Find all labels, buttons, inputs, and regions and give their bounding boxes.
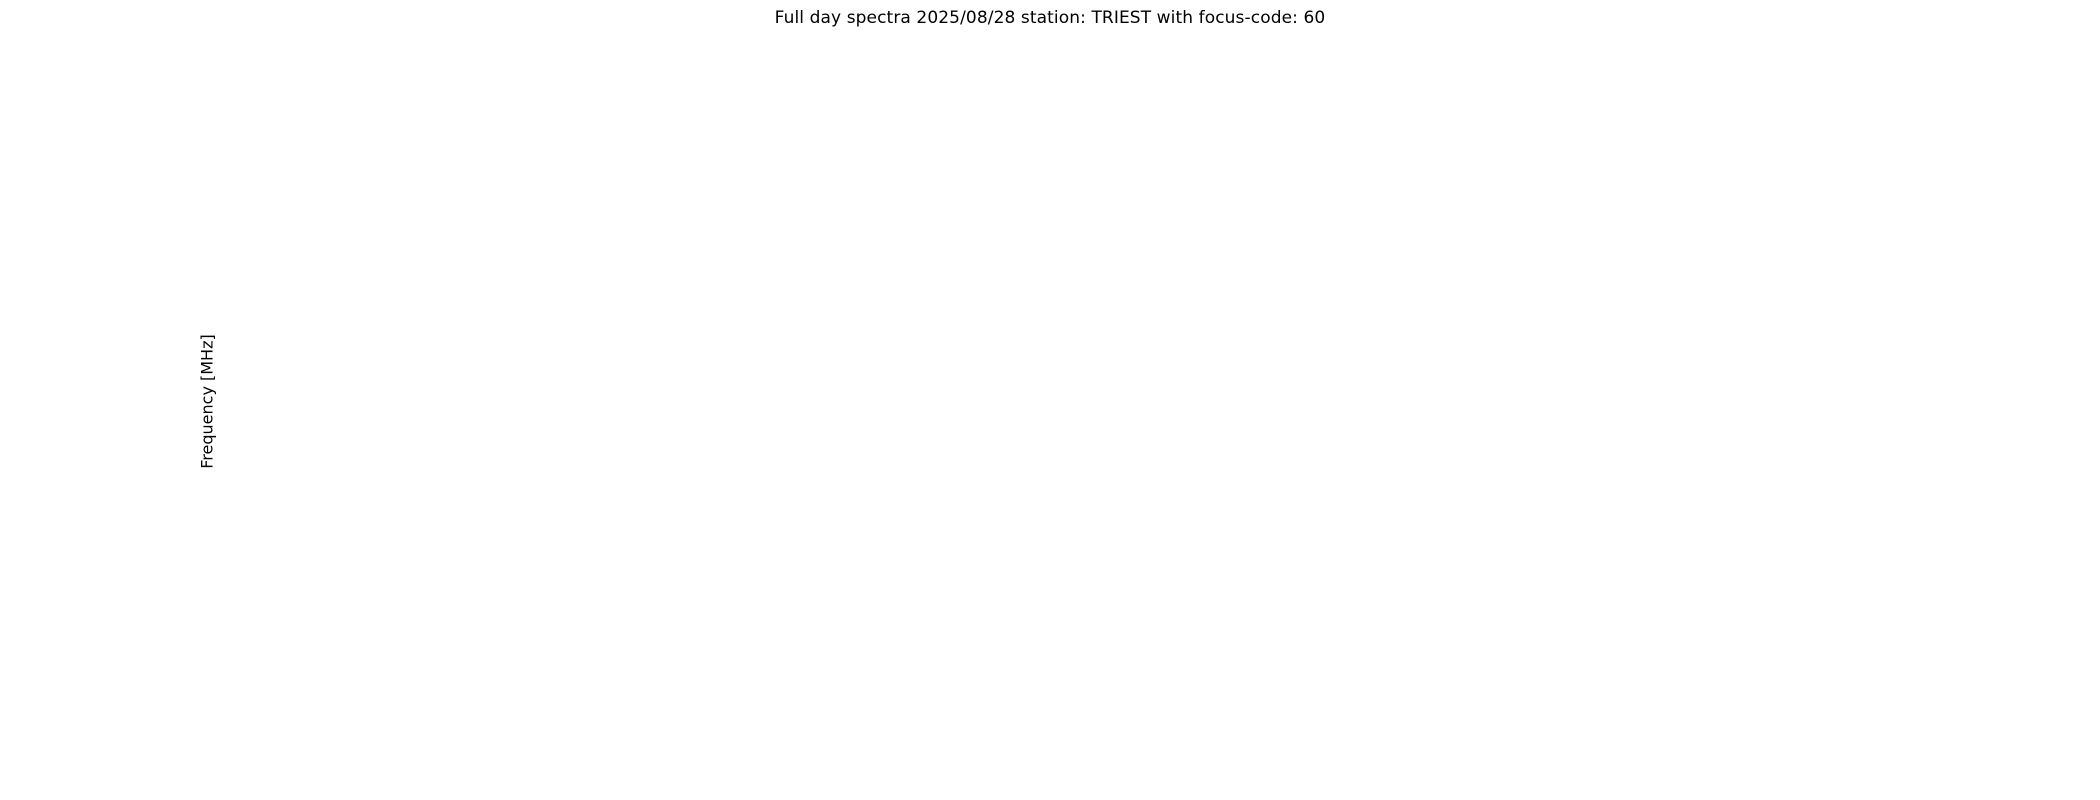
figure-title: Full day spectra 2025/08/28 station: TRI… [0,8,2100,28]
spectrogram-figure: Full day spectra 2025/08/28 station: TRI… [0,0,2100,800]
x-axis [264,712,1890,752]
y-axis-label-text: Frequency [MHz] [198,334,217,468]
y-axis-label: Frequency [MHz] [196,90,218,712]
